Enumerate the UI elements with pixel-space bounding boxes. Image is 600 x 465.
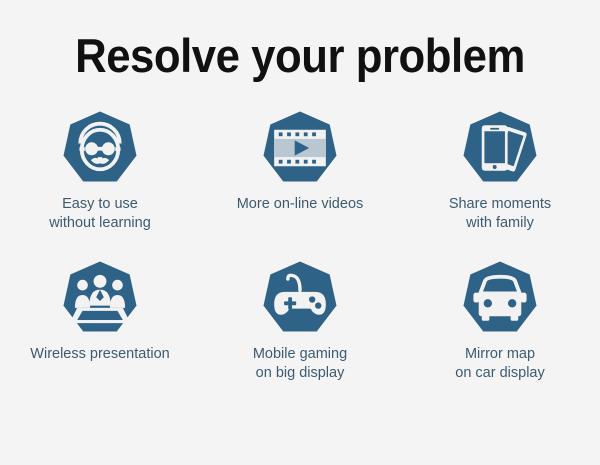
feature-row-top: Easy to use without learning xyxy=(0,110,600,233)
feature-label: Share moments with family xyxy=(449,195,551,233)
meeting-presentation-icon xyxy=(62,260,138,336)
feature-label: Easy to use without learning xyxy=(49,195,151,233)
feature-poster: Resolve your problem xyxy=(0,0,600,465)
game-controller-icon xyxy=(262,260,338,336)
feature-label: Mirror map on car display xyxy=(455,345,544,383)
page-title: Resolve your problem xyxy=(21,28,579,83)
feature-label: Mobile gaming on big display xyxy=(253,345,347,383)
feature-item-share-moments[interactable]: Share moments with family xyxy=(400,110,600,233)
feature-item-easy-to-use[interactable]: Easy to use without learning xyxy=(0,110,200,233)
feature-grid: Easy to use without learning xyxy=(0,110,600,383)
glasses-mustache-face-icon xyxy=(62,110,138,186)
film-strip-play-icon xyxy=(262,110,338,186)
smartphone-photos-icon xyxy=(462,110,538,186)
feature-item-online-videos[interactable]: More on-line videos xyxy=(200,110,400,233)
car-front-icon xyxy=(462,260,538,336)
feature-item-wireless-presentation[interactable]: Wireless presentation xyxy=(0,260,200,383)
feature-row-bottom: Wireless presentation xyxy=(0,260,600,383)
feature-label: Wireless presentation xyxy=(30,345,169,364)
watermark-text xyxy=(62,404,138,419)
feature-label: More on-line videos xyxy=(237,195,364,214)
feature-item-mobile-gaming[interactable]: Mobile gaming on big display xyxy=(200,260,400,383)
feature-item-mirror-map[interactable]: Mirror map on car display xyxy=(400,260,600,383)
